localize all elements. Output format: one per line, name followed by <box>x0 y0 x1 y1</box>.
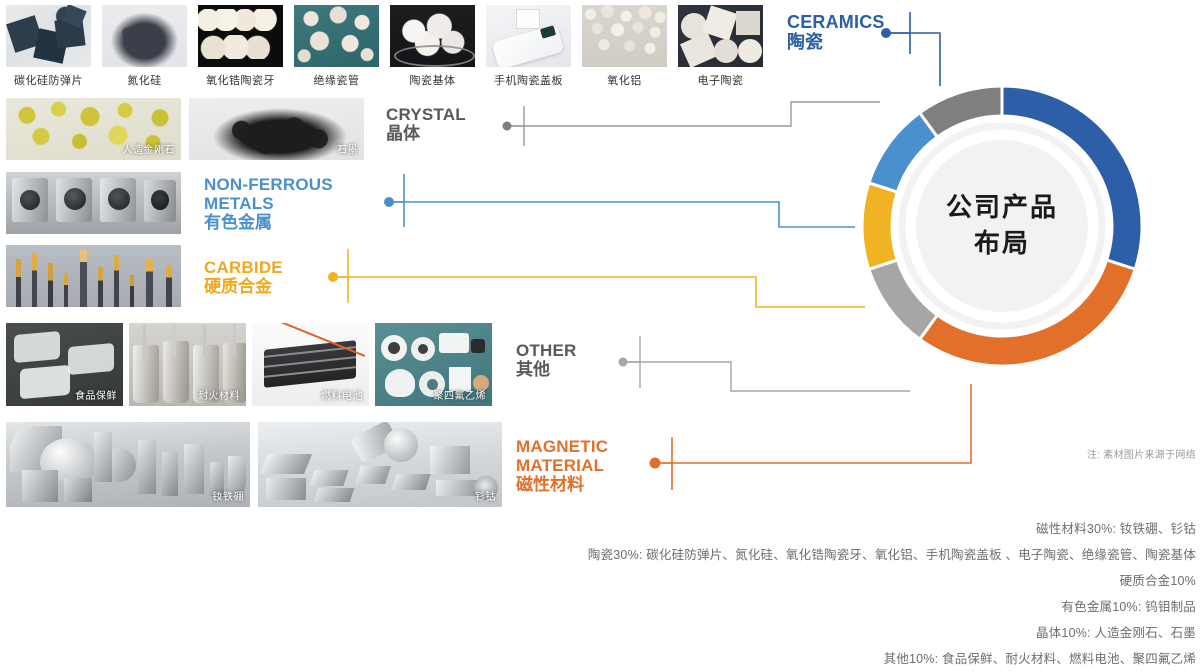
photo-caption-ceramics-7: 氧化铝 <box>582 72 667 88</box>
photo-tile-ceramics-3 <box>198 5 283 67</box>
connector-crystal <box>506 102 880 146</box>
label-crystal-en: CRYSTAL <box>386 105 466 124</box>
photo-caption-magnetic-2: 钐钴 <box>475 488 496 503</box>
photo-tile-ceramics-5 <box>390 5 475 67</box>
photo-insulating-tube <box>294 5 379 67</box>
photo-tile-other-4: 聚四氟乙烯 <box>375 323 492 406</box>
label-crystal-zh: 晶体 <box>386 124 466 143</box>
legend-list: 磁性材料30%: 钕铁硼、钐钴 陶瓷30%: 碳化硅防弹片、氮化硅、氧化锆陶瓷牙… <box>556 516 1196 672</box>
connector-dot-magnetic <box>650 458 661 469</box>
label-magnetic-zh: 磁性材料 <box>516 475 608 494</box>
label-nfm-en-line2: METALS <box>204 194 333 213</box>
legend-line-carbide: 硬质合金10% <box>556 568 1196 594</box>
photo-tile-ceramics-1 <box>6 5 91 67</box>
photo-caption-ceramics-6: 手机陶瓷盖板 <box>486 72 571 88</box>
photo-zirconia-dental <box>198 5 283 67</box>
photo-tile-other-1: 食品保鲜 <box>6 323 123 406</box>
label-other-zh: 其他 <box>516 360 577 379</box>
donut-center-line2: 布局 <box>974 226 1030 262</box>
photo-tile-ceramics-7 <box>582 5 667 67</box>
photo-silicon-carbide-plate <box>6 5 91 67</box>
photo-tile-crystal-1: 人造金刚石 <box>6 98 181 160</box>
infographic-canvas: 碳化硅防弹片 氮化硅 氧化锆陶瓷牙 绝缘瓷管 陶瓷基体 手机陶瓷盖板 氧化铝 <box>0 0 1204 632</box>
photo-tile-magnetic-1: 钕铁硼 <box>6 422 250 507</box>
connector-carbide <box>332 249 865 307</box>
label-nfm-en-line1: NON-FERROUS <box>204 175 333 194</box>
photo-alumina-beads <box>582 5 667 67</box>
label-ceramics-en: CERAMICS <box>787 12 885 32</box>
connector-dot-carbide <box>328 272 338 282</box>
connector-ceramics <box>885 12 940 86</box>
label-carbide[interactable]: CARBIDE 硬质合金 <box>204 258 283 296</box>
photo-caption-ceramics-2: 氮化硅 <box>102 72 187 88</box>
source-note: 注: 素材图片来源于网络 <box>1087 446 1196 461</box>
photo-tile-ceramics-2 <box>102 5 187 67</box>
connector-magnetic <box>654 384 971 490</box>
label-carbide-zh: 硬质合金 <box>204 277 283 296</box>
legend-line-other: 其他10%: 食品保鲜、耐火材料、燃料电池、聚四氟乙烯 <box>556 646 1196 672</box>
photo-caption-crystal-2: 石墨 <box>337 141 358 156</box>
label-magnetic[interactable]: MAGNETIC MATERIAL 磁性材料 <box>516 437 608 494</box>
photo-tile-other-2: 耐火材料 <box>129 323 246 406</box>
label-other[interactable]: OTHER 其他 <box>516 341 577 379</box>
legend-line-crystal: 晶体10%: 人造金刚石、石墨 <box>556 620 1196 646</box>
donut-center-line1: 公司产品 <box>946 190 1058 226</box>
label-nfm[interactable]: NON-FERROUS METALS 有色金属 <box>204 175 333 232</box>
legend-line-ceramics: 陶瓷30%: 碳化硅防弹片、氮化硅、氧化锆陶瓷牙、氧化铝、手机陶瓷盖板 、电子陶… <box>556 542 1196 568</box>
photo-tile-ceramics-8 <box>678 5 763 67</box>
photo-tile-magnetic-2: 钐钴 <box>258 422 502 507</box>
photo-caption-crystal-1: 人造金刚石 <box>123 141 176 156</box>
photo-tile-other-3: 燃料电池 <box>252 323 369 406</box>
photo-tile-ceramics-4 <box>294 5 379 67</box>
photo-tile-nfm-1 <box>6 172 181 234</box>
label-other-en: OTHER <box>516 341 577 360</box>
label-crystal[interactable]: CRYSTAL 晶体 <box>386 105 466 143</box>
photo-caption-ceramics-1: 碳化硅防弹片 <box>6 72 91 88</box>
label-magnetic-en-line1: MAGNETIC <box>516 437 608 456</box>
legend-line-nfm: 有色金属10%: 钨钼制品 <box>556 594 1196 620</box>
connector-dot-nfm <box>384 197 394 207</box>
photo-tile-ceramics-6 <box>486 5 571 67</box>
photo-carbide-tools <box>6 245 181 307</box>
donut-center-text: 公司产品 布局 <box>853 77 1151 375</box>
photo-caption-ceramics-8: 电子陶瓷 <box>678 72 763 88</box>
photo-phone-ceramic-cover <box>486 5 571 67</box>
photo-silicon-nitride <box>102 5 187 67</box>
label-carbide-en: CARBIDE <box>204 258 283 277</box>
photo-caption-ceramics-5: 陶瓷基体 <box>390 72 475 88</box>
photo-ceramic-substrate <box>390 5 475 67</box>
photo-caption-other-2: 耐火材料 <box>198 387 240 402</box>
photo-tungsten-molybdenum-parts <box>6 172 181 234</box>
photo-tile-carbide-1 <box>6 245 181 307</box>
legend-line-magnetic: 磁性材料30%: 钕铁硼、钐钴 <box>556 516 1196 542</box>
photo-electronic-ceramics <box>678 5 763 67</box>
label-ceramics[interactable]: CERAMICS 陶瓷 <box>787 12 885 52</box>
label-ceramics-zh: 陶瓷 <box>787 32 885 52</box>
connector-nfm <box>388 174 855 227</box>
photo-caption-magnetic-1: 钕铁硼 <box>213 488 245 503</box>
photo-caption-ceramics-4: 绝缘瓷管 <box>294 72 379 88</box>
photo-tile-crystal-2: 石墨 <box>189 98 364 160</box>
photo-caption-other-4: 聚四氟乙烯 <box>434 387 487 402</box>
photo-caption-ceramics-3: 氧化锆陶瓷牙 <box>198 72 283 88</box>
photo-samarium-cobalt-magnets <box>258 422 502 507</box>
label-nfm-zh: 有色金属 <box>204 213 333 232</box>
photo-caption-other-3: 燃料电池 <box>321 387 363 402</box>
donut-center: 公司产品 布局 <box>853 77 1151 375</box>
photo-caption-other-1: 食品保鲜 <box>75 387 117 402</box>
connector-dot-crystal <box>503 122 512 131</box>
connector-dot-other <box>619 358 628 367</box>
label-magnetic-en-line2: MATERIAL <box>516 456 608 475</box>
